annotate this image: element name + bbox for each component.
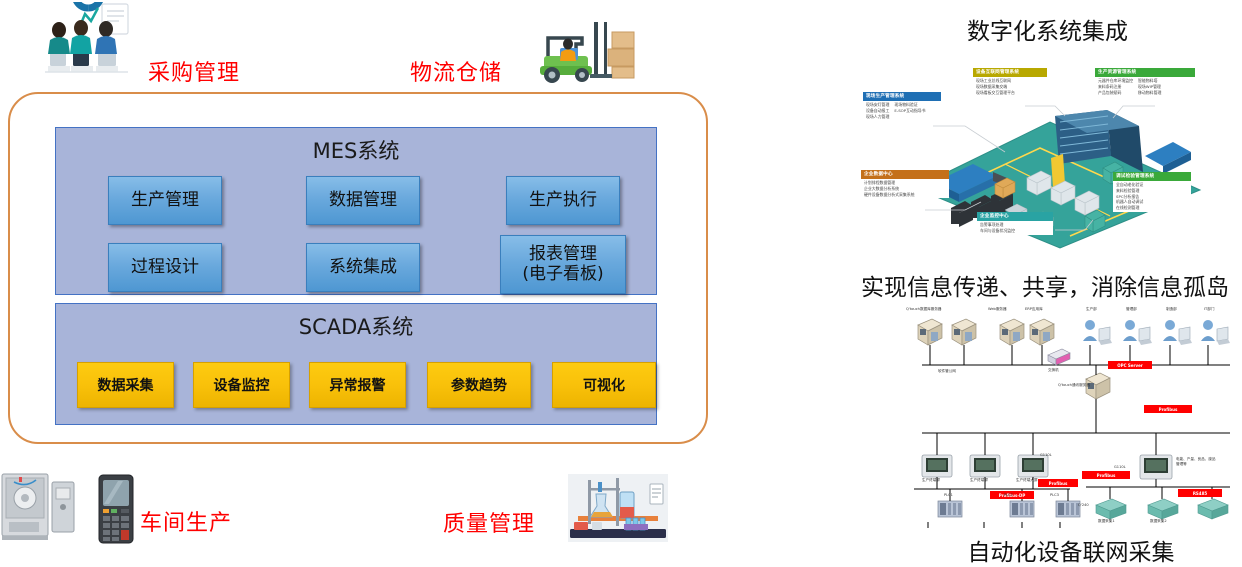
item: 现场物料验证 [894, 102, 917, 107]
net-label-plc-2: PLC2 [1004, 493, 1013, 497]
item: 现场数据采集交端 [976, 84, 1007, 89]
net-label-db-server: Q'touch数据库服务器 [906, 307, 942, 312]
net-label-plc-3: PLC3 [1050, 493, 1059, 497]
label: 系统集成 [329, 258, 397, 277]
scada-module-alarm[interactable]: 异常报警 [309, 362, 406, 408]
net-label-switch: 交换机 [1048, 368, 1059, 373]
right-heading-middle: 实现信息传递、共享，消除信息孤岛 [845, 268, 1242, 302]
item: 元器件仓库环境监控 [1098, 78, 1133, 83]
callout-label-logistics: 物流仓储 [410, 55, 502, 87]
item: 智能物料塔 [1138, 78, 1157, 83]
item: 设备自动报工 [866, 108, 889, 113]
label: 可视化 [583, 375, 625, 395]
card-title: 生产资源管理系统 [1095, 68, 1195, 77]
item: 计划排程数据管理 [864, 180, 895, 185]
item: 全自动老化验证 [1116, 182, 1143, 187]
item: E-SOP互动指导书 [894, 108, 925, 113]
iso-card-enterprise-data: 企业数据中心 计划排程数据管理 企业大数据分析系统 硬件设备数据分析式采集系统 [861, 170, 949, 198]
mes-module-report-management[interactable]: 报表管理 (电子看板) [500, 235, 626, 294]
right-heading-top: 数字化系统集成 [855, 12, 1240, 46]
net-label-hmi-1: 生产终端屏 [922, 478, 940, 483]
iso-card-field-production: 现场生产管理系统 现场安灯管理 设备自动报工 现场人力管理 现场物料验证 E-S… [863, 92, 941, 120]
callout-label-workshop: 车间生产 [140, 505, 232, 537]
net-label-user-it: IT部门 [1204, 307, 1214, 312]
net-label-erp-server: ERP应用库 [1025, 307, 1043, 312]
scada-panel-title: SCADA系统 [56, 304, 656, 341]
mes-module-production-management[interactable]: 生产管理 [108, 176, 222, 225]
item: 产品包装赋码 [1098, 90, 1121, 95]
mes-panel-title: MES系统 [56, 128, 656, 165]
scada-module-equipment-monitoring[interactable]: 设备监控 [193, 362, 290, 408]
mes-module-process-design[interactable]: 过程设计 [108, 243, 222, 292]
item: 机器人自动调试 [1116, 199, 1143, 204]
item: SPC分析报告 [1116, 194, 1139, 199]
net-label-user-production: 生产部 [1086, 307, 1097, 312]
net-label-user-manufacturing: 制造部 [1166, 307, 1177, 312]
iso-card-equipment-iot: 设备互联网管理系统 现场工业总线互联网 现场数据采集交端 现场看板交互管理平台 [973, 68, 1047, 96]
mes-module-production-execution[interactable]: 生产执行 [506, 176, 620, 225]
item: 现场安灯管理 [866, 102, 889, 107]
net-label-hmi-2: 生产终端屏 [970, 478, 988, 483]
item: 企业大数据分析系统 [864, 186, 899, 191]
iso-card-test-inspection: 调试检验管理系统 全自动老化验证 来料检验管理 SPC分析报告 机器人自动调试 … [1113, 172, 1191, 212]
item: 移动物料管理 [1138, 90, 1161, 95]
label: 参数趋势 [451, 375, 507, 395]
forklift-icon [530, 18, 646, 84]
card-title: 设备互联网管理系统 [973, 68, 1047, 77]
net-tag-profibus-2: Profibus [1038, 479, 1078, 487]
production-machine-icon [0, 470, 80, 542]
item: 硬件设备数据分析式采集系统 [864, 192, 915, 197]
label: 设备监控 [214, 375, 270, 395]
net-tag-opc-server: OPC Server [1108, 361, 1152, 369]
callout-label-quality: 质量管理 [443, 506, 535, 538]
net-label-comm-server: Q'touch通讯服务器 [1058, 383, 1088, 388]
callout-label-purchasing: 采购管理 [148, 55, 240, 87]
net-label-hmi-3: 生产终端大屏 [1016, 478, 1038, 483]
right-heading-bottom: 自动化设备联网采集 [900, 533, 1242, 567]
net-label-software-network: 软件管公网 [938, 369, 956, 374]
scada-module-data-acquisition[interactable]: 数据采集 [77, 362, 174, 408]
net-tag-rs485: RS485 [1178, 489, 1222, 497]
label: 数据采集 [98, 375, 154, 395]
handheld-terminal-icon [95, 473, 137, 545]
laboratory-icon [568, 474, 668, 542]
label: 异常报警 [330, 375, 386, 395]
scada-module-parameter-trend[interactable]: 参数趋势 [427, 362, 531, 408]
item: 现场工业总线互联网 [976, 78, 1011, 83]
item: 现场看板交互管理平台 [976, 90, 1015, 95]
digital-factory-isometric-diagram: 现场生产管理系统 现场安灯管理 设备自动报工 现场人力管理 现场物料验证 E-S… [855, 60, 1240, 255]
label: 生产执行 [529, 191, 597, 210]
iso-card-enterprise-monitor: 企业监控中心 告警事项处理 车间与设备状况监控 [977, 212, 1053, 235]
net-label-web-server: Web服务器 [988, 307, 1007, 312]
mes-module-system-integration[interactable]: 系统集成 [306, 243, 420, 292]
net-label-inverter: Q'240 [1078, 503, 1089, 507]
card-title: 企业数据中心 [861, 170, 949, 179]
net-tag-profibus-1: Profibus [1144, 405, 1192, 413]
net-label-g110l-1: G110L [1040, 453, 1052, 457]
team-meeting-icon [40, 2, 132, 74]
net-label-g110l-2: G110L [1114, 465, 1126, 469]
mes-module-data-management[interactable]: 数据管理 [306, 176, 420, 225]
scada-module-visualization[interactable]: 可视化 [552, 362, 656, 408]
item: 现场WIP管理 [1138, 84, 1161, 89]
equipment-network-topology-diagram: Q'touch数据库服务器 Web服务器 ERP应用库 生产部 管理部 制造部 … [900, 305, 1242, 527]
label: 生产管理 [131, 191, 199, 210]
item: 在线检测管理 [1116, 205, 1139, 210]
item: 现场人力管理 [866, 114, 889, 119]
label: 报表管理 (电子看板) [522, 245, 603, 283]
net-label-user-management: 管理部 [1126, 307, 1137, 312]
item: 来料检验管理 [1116, 188, 1139, 193]
card-title: 企业监控中心 [977, 212, 1053, 221]
item: 车间与设备状况监控 [980, 228, 1015, 233]
label: 过程设计 [131, 258, 199, 277]
card-title: 调试检验管理系统 [1113, 172, 1191, 181]
net-label-plc-1: PLC1 [944, 493, 953, 497]
card-title: 现场生产管理系统 [863, 92, 941, 101]
label: 数据管理 [329, 191, 397, 210]
iso-card-production-resource: 生产资源管理系统 元器件仓库环境监控 来料条码注册 产品包装赋码 智能物料塔 现… [1095, 68, 1195, 96]
net-tag-profibus-3: Profibus [1082, 471, 1130, 479]
net-label-hmi-note: 电能、产量、良品、废品管理等 [1176, 457, 1216, 467]
item: 来料条码注册 [1098, 84, 1121, 89]
item: 告警事项处理 [980, 222, 1003, 227]
